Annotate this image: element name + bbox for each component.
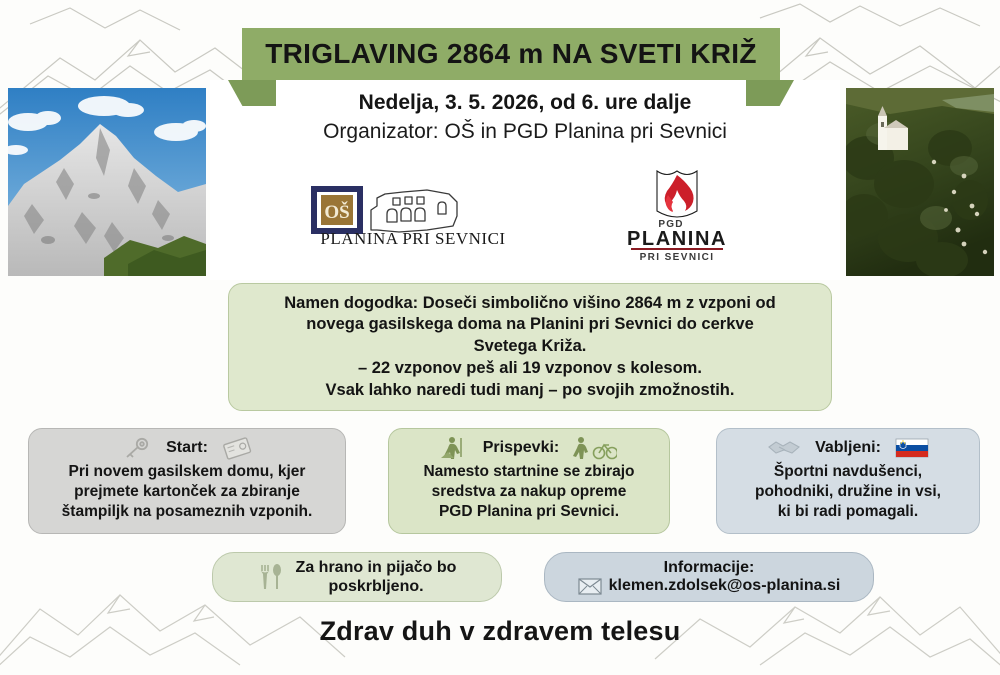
os-logo-caption: PLANINA PRI SEVNICI [320,229,505,246]
purpose-label: Namen dogodka: [284,294,418,312]
flame-icon [657,171,697,217]
handshake-icon [767,437,801,459]
slovenia-flag-icon [895,437,929,459]
purpose-box: Namen dogodka: Doseči simbolično višino … [228,283,832,411]
contact-box[interactable]: Informacije: klemen.zdolsek@os-planina.s… [544,552,874,602]
poster-slogan: Zdrav duh v zdravem telesu [0,616,1000,647]
purpose-line-2: novega gasilskega doma na Planini pri Se… [284,314,775,336]
pgd-logo-sub: PRI SEVNICI [640,252,715,261]
start-line-2: prejmete kartonček za zbiranje [62,482,313,502]
vabljeni-line-3: ki bi radi pomagali. [755,502,941,522]
food-box: Za hrano in pijačo bo poskrbljeno. [212,552,502,602]
vabljeni-line-2: pohodniki, družine in vsi, [755,482,941,502]
stamp-card-icon [222,436,252,460]
os-emblem: OŠ [311,186,363,234]
start-title: Start: [166,439,208,457]
pgd-planina-logo: PGD PLANINA PRI SEVNICI [611,169,743,261]
poster-title: TRIGLAVING 2864 m NA SVETI KRIŽ [265,38,757,70]
purpose-line-3: Svetega Križa. [284,336,775,358]
castle-outline [371,190,457,232]
contact-email[interactable]: klemen.zdolsek@os-planina.si [609,577,841,595]
start-line-3: štampiljk na posameznih vzponih. [62,502,313,522]
pgd-logo-name: PLANINA [627,228,727,250]
purpose-line-1: Doseči simbolično višino 2864 m z vzponi… [418,294,776,312]
os-planina-logo: OŠ PLANINA PRI SEVNICI [307,184,519,246]
svg-text:OŠ: OŠ [324,201,349,223]
info-box-start: Start: Pri novem gasilskem domu, kjer pr… [28,428,346,534]
hiker-bicycle-icon [573,436,617,460]
organizer-line: Organizator: OŠ in PGD Planina pri Sevni… [210,119,840,146]
food-line-2: poskrbljeno. [296,577,457,596]
event-poster: TRIGLAVING 2864 m NA SVETI KRIŽ Nedelja,… [0,0,1000,675]
purpose-line-5: Vsak lahko naredi tudi manj – po svojih … [284,380,775,402]
prispevki-title: Prispevki: [483,439,559,457]
food-line-1: Za hrano in pijačo bo [296,558,457,577]
info-box-prispevki: Prispevki: Namesto startnine se zbirajo … [388,428,670,534]
purpose-line-4: – 22 vzponov peš ali 19 vzponov s koleso… [284,358,775,380]
vabljeni-line-1: Športni navdušenci, [755,462,941,482]
prispevki-line-1: Namesto startnine se zbirajo [423,462,634,482]
key-icon [122,437,152,459]
contact-title: Informacije: [664,559,755,577]
fork-spoon-icon [258,562,284,592]
triglav-mountain-photo [8,88,206,276]
header-text-block: Nedelja, 3. 5. 2026, od 6. ure dalje Org… [210,90,840,146]
info-box-vabljeni: Vabljeni: Športni navdušenci, pohodniki,… [716,428,980,534]
vabljeni-title: Vabljeni: [815,439,881,457]
logo-row: OŠ PLANINA PRI SEVNICI [210,160,840,270]
prispevki-line-2: sredstva za nakup opreme [423,482,634,502]
envelope-icon [578,578,602,595]
sveti-kriz-church-photo [846,88,994,276]
event-date: Nedelja, 3. 5. 2026, od 6. ure dalje [210,90,840,117]
prispevki-line-3: PGD Planina pri Sevnici. [423,502,634,522]
start-line-1: Pri novem gasilskem domu, kjer [62,462,313,482]
hiker-icon [441,436,469,460]
